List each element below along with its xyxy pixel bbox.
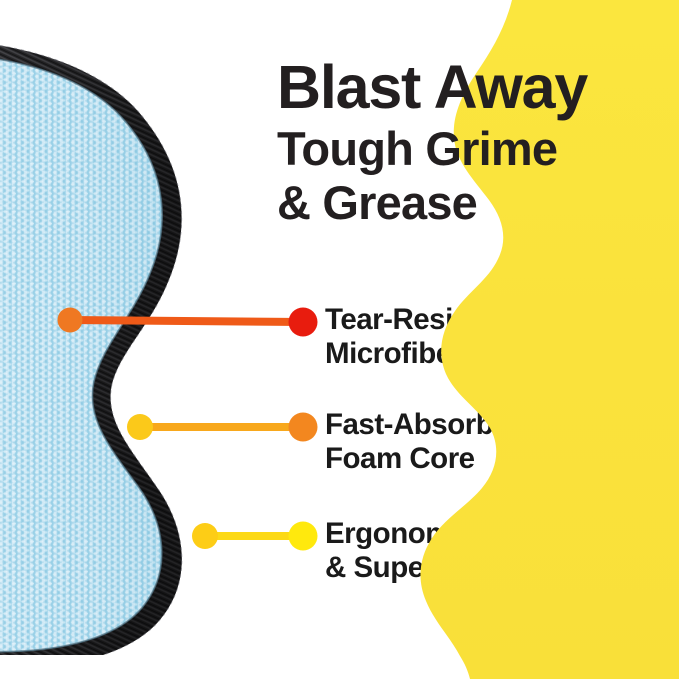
headline-block: Blast Away Tough Grime & Grease bbox=[277, 58, 587, 228]
headline-line-3: & Grease bbox=[277, 174, 587, 228]
connector-tear-resistant-microfiber bbox=[58, 308, 318, 337]
headline-line-2: Tough Grime bbox=[277, 118, 587, 174]
infographic-canvas: Blast Away Tough Grime & Grease Tear-Res… bbox=[0, 0, 679, 679]
connector-fast-absorbing-foam-core bbox=[127, 413, 318, 442]
headline-line-1: Blast Away bbox=[277, 58, 587, 118]
connector-ergonomic-shape bbox=[192, 522, 318, 551]
